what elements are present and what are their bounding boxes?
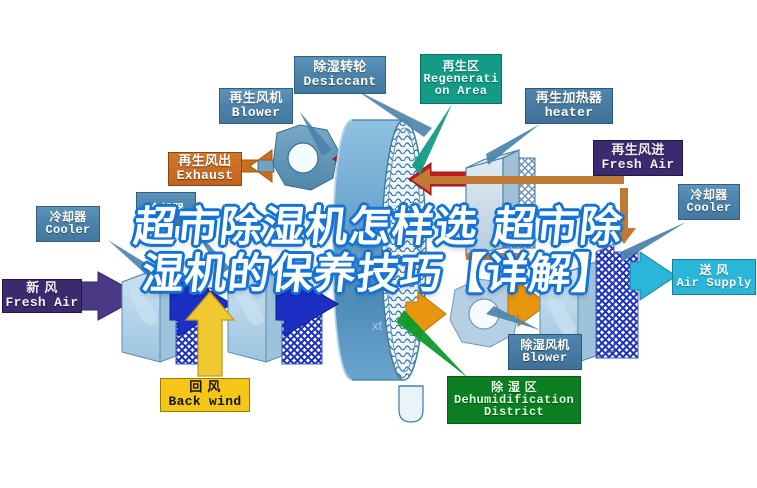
label-fresh-air-cn: 新 风 [26, 282, 57, 296]
label-regen-blower-cn: 再生风机 [229, 92, 282, 106]
label-dehumidification-district-en2: District [484, 406, 544, 419]
label-cooler-right: 冷却器 Cooler [678, 184, 740, 220]
label-regen-blower-en: Blower [232, 106, 281, 120]
heater-block [409, 150, 535, 260]
label-cooler-left-1-en: Cooler [45, 224, 90, 237]
desiccant-rotor: xt [333, 120, 426, 380]
label-regen-fresh-air-en: Fresh Air [602, 158, 675, 172]
label-dehumidification-district-cn: 除 湿 区 [491, 381, 537, 394]
svg-text:xt: xt [372, 318, 383, 333]
label-desiccant: 除湿转轮 Desiccant [294, 56, 386, 94]
label-cooler-left-2-cn: 冷却器 [148, 203, 185, 216]
label-regen-heater-cn: 再生加热器 [536, 92, 603, 106]
label-back-wind-en: Back wind [169, 395, 242, 409]
diagram-canvas: xt [0, 0, 757, 488]
label-regeneration-area-cn: 再生区 [443, 60, 480, 73]
label-dehum-blower: 除湿风机 Blower [508, 334, 582, 370]
label-back-wind-cn: 回 风 [189, 381, 220, 395]
label-regeneration-area: 再生区 Regenerati on Area [420, 54, 502, 104]
label-desiccant-cn: 除湿转轮 [313, 61, 366, 75]
label-desiccant-en: Desiccant [304, 75, 377, 89]
label-dehum-blower-en: Blower [522, 352, 567, 365]
label-exhaust-en: Exhaust [177, 169, 234, 183]
label-fresh-air: 新 风 Fresh Air [2, 279, 82, 313]
label-regen-heater-en: heater [545, 106, 594, 120]
label-regen-blower: 再生风机 Blower [219, 88, 293, 124]
label-cooler-left-2: 冷却器 [136, 192, 196, 226]
label-air-supply-en: Air Supply [676, 277, 751, 290]
label-exhaust: 再生风出 Exhaust [168, 152, 242, 186]
label-fresh-air-en: Fresh Air [6, 296, 79, 310]
regen-riser-arrow [612, 188, 636, 244]
label-regen-fresh-air: 再生风进 Fresh Air [593, 140, 683, 176]
drain-pan [399, 386, 423, 422]
label-exhaust-cn: 再生风出 [178, 155, 231, 169]
label-cooler-right-en: Cooler [686, 202, 731, 215]
label-regeneration-area-en2: on Area [435, 85, 488, 98]
label-dehumidification-district: 除 湿 区 Dehumidification District [447, 376, 581, 424]
label-back-wind: 回 风 Back wind [160, 378, 250, 412]
label-regen-heater: 再生加热器 heater [525, 88, 613, 124]
label-air-supply: 送 风 Air Supply [672, 259, 756, 295]
label-regen-fresh-air-cn: 再生风进 [611, 144, 664, 158]
label-cooler-left-1: 冷却器 Cooler [36, 206, 100, 242]
